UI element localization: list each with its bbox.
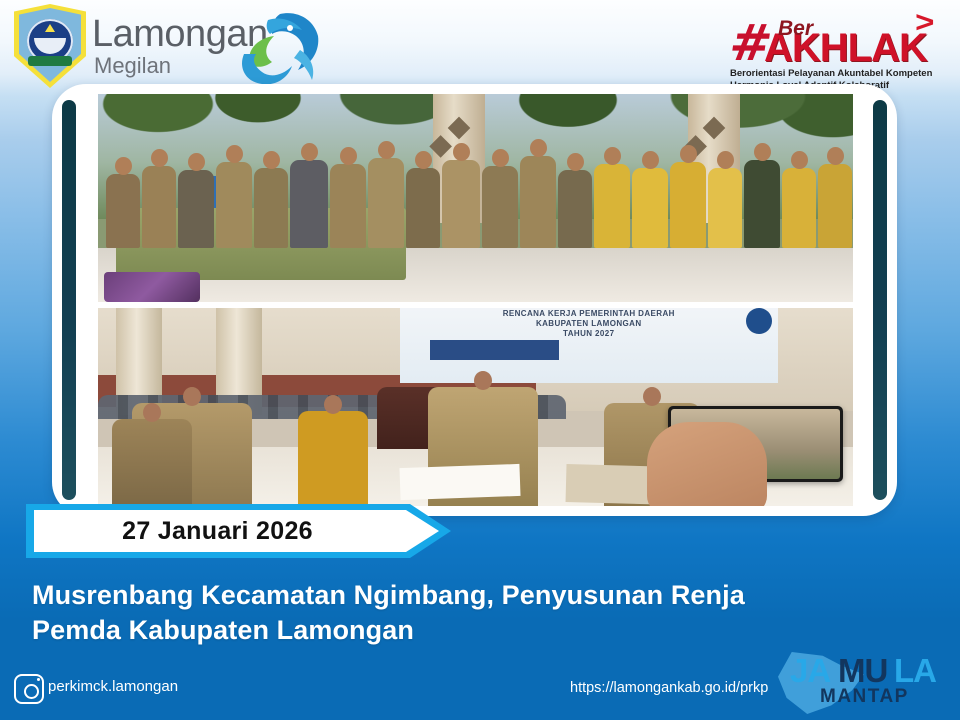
- jamula-part-3: LA: [894, 652, 936, 690]
- poster-header: Lamongan Megilan > # AKHLAK Ber Berorien…: [0, 0, 960, 96]
- page-title-line-2: Pemda Kabupaten Lamongan: [32, 613, 912, 648]
- photo-batik-cloth: [104, 272, 200, 302]
- date-badge-text: 27 Januari 2026: [122, 517, 351, 546]
- frame-edge-left: [62, 100, 76, 500]
- document-signing-photo: RENCANA KERJA PEMERINTAH DAERAH KABUPATE…: [98, 308, 853, 506]
- berakhlak-logo: > # AKHLAK Ber Berorientasi Pelayanan Ak…: [716, 6, 942, 92]
- photo-hand-holding-phone: [647, 422, 767, 506]
- crest-ribbon: [28, 56, 72, 66]
- banner-line-1: RENCANA KERJA PEMERINTAH DAERAH: [400, 309, 778, 318]
- page-title-line-1: Musrenbang Kecamatan Ngimbang, Penyusuna…: [32, 580, 745, 610]
- instagram-handle[interactable]: perkimck.lamongan: [48, 678, 178, 695]
- jamula-mantap-logo: JA MU LA MANTAP: [776, 646, 946, 720]
- instagram-lens: [24, 684, 39, 699]
- jamula-subtitle: MANTAP: [820, 686, 909, 708]
- banner-line-2: KABUPATEN LAMONGAN: [400, 319, 778, 328]
- jamula-part-2: MU: [838, 652, 887, 690]
- banner-strip: [430, 340, 558, 360]
- photo-person-yellow: [298, 411, 368, 506]
- jamula-part-1: JA: [790, 652, 830, 690]
- frame-edge-right: [873, 100, 887, 500]
- instagram-dot: [37, 678, 40, 681]
- lamongan-fish-wave-logo-icon: [228, 6, 332, 90]
- instagram-icon[interactable]: [14, 674, 44, 704]
- banner-line-3: TAHUN 2027: [400, 329, 778, 338]
- crest-star-icon: [45, 24, 55, 32]
- date-badge-body: 27 Januari 2026: [34, 510, 439, 552]
- photo-person-left-back: [112, 419, 192, 506]
- akhlak-tagline-line-1: Berorientasi Pelayanan Akuntabel Kompete…: [730, 68, 942, 80]
- date-badge: 27 Januari 2026: [26, 504, 451, 558]
- photo-frame: RENCANA KERJA PEMERINTAH DAERAH KABUPATE…: [52, 84, 897, 516]
- akhlak-ber: Ber: [778, 18, 813, 39]
- photo-signed-document: [399, 464, 520, 500]
- poster-footer: perkimck.lamongan https://lamongankab.go…: [0, 658, 960, 720]
- poster-canvas: Lamongan Megilan > # AKHLAK Ber Berorien…: [0, 0, 960, 720]
- page-title: Musrenbang Kecamatan Ngimbang, Penyusuna…: [32, 578, 912, 647]
- website-url[interactable]: https://lamongankab.go.id/prkp: [570, 680, 768, 696]
- lamongan-regency-emblem-icon: [14, 4, 86, 92]
- musrenbang-group-photo: [98, 94, 853, 302]
- photo-stack: RENCANA KERJA PEMERINTAH DAERAH KABUPATE…: [98, 94, 853, 506]
- backdrop-banner: RENCANA KERJA PEMERINTAH DAERAH KABUPATE…: [400, 308, 778, 383]
